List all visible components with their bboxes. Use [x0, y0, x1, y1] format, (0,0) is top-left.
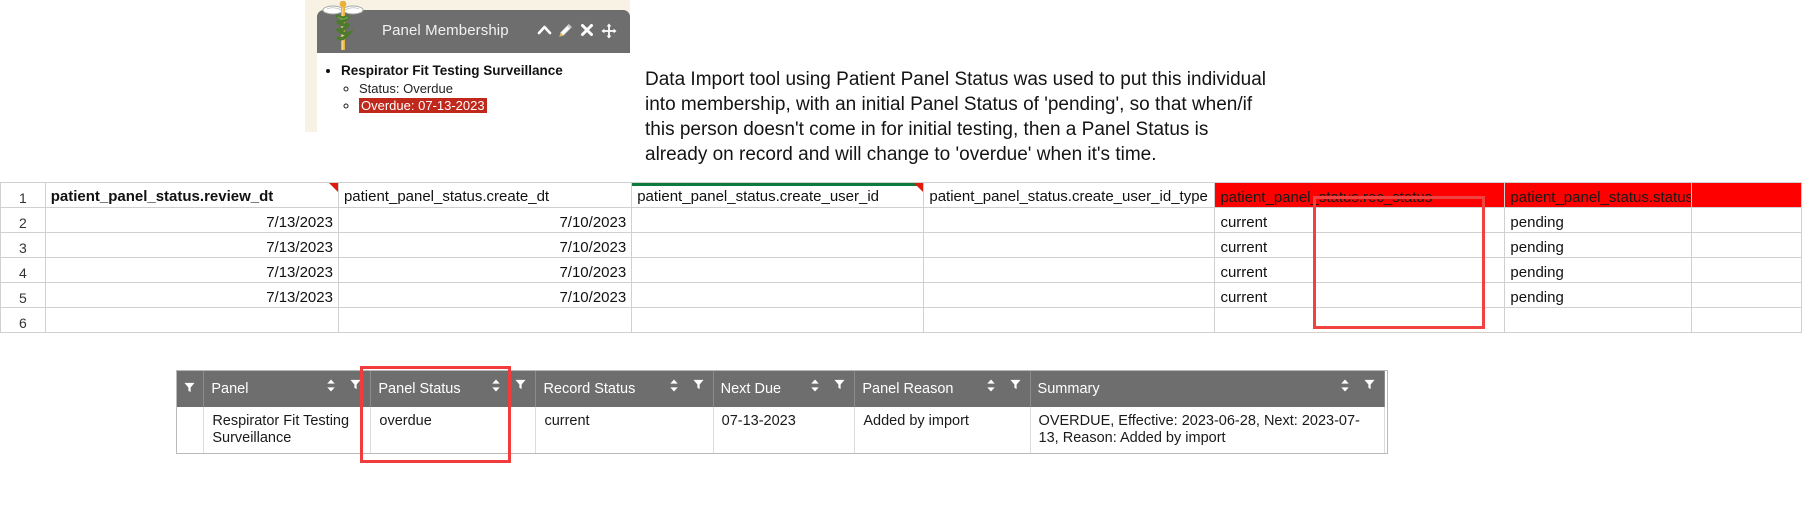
cell-review-dt[interactable]: 7/13/2023 [45, 208, 338, 233]
cell-create-dt[interactable]: 7/10/2023 [338, 283, 631, 308]
row-number[interactable]: 4 [1, 258, 46, 283]
sort-arrows-glyph [491, 379, 501, 392]
panel-title: Panel Membership [382, 22, 509, 39]
column-header-rec-status[interactable]: patient_panel_status.rec_status [1215, 183, 1505, 208]
panel-overdue-line: Overdue: 07-13-2023 [359, 98, 487, 113]
sort-icon[interactable] [669, 379, 679, 395]
grid-column-label: Panel [211, 381, 248, 397]
grid-cell-panel-status[interactable]: overdue [371, 407, 536, 453]
cell-trailing[interactable] [1691, 258, 1801, 283]
move-icon[interactable] [601, 23, 617, 43]
panel-list: Respirator Fit Testing Surveillance Stat… [317, 53, 630, 114]
cell-trailing[interactable] [1691, 283, 1801, 308]
panel-overdue-line-row: Overdue: 07-13-2023 [359, 97, 630, 114]
sort-icon[interactable] [986, 379, 996, 395]
grid-cell-summary[interactable]: OVERDUE, Effective: 2023-06-28, Next: 20… [1030, 407, 1384, 453]
annotation-line-4: already on record and will change to 'ov… [645, 142, 1365, 167]
cell-rec-status[interactable]: current [1215, 208, 1505, 233]
cell-create-user-id-type[interactable] [924, 208, 1215, 233]
filter-icon [184, 382, 195, 393]
filter-glyph [350, 379, 361, 390]
cell-create-user-id[interactable] [632, 258, 924, 283]
cell-create-dt[interactable] [338, 308, 631, 333]
cell-create-dt[interactable]: 7/10/2023 [338, 233, 631, 258]
cell-create-user-id[interactable] [632, 283, 924, 308]
annotation-line-3: this person doesn't come in for initial … [645, 117, 1365, 142]
filter-icon[interactable] [515, 379, 526, 392]
caduceus-glyph [321, 1, 365, 53]
cell-create-user-id-type[interactable] [924, 233, 1215, 258]
cell-status[interactable] [1505, 308, 1691, 333]
cell-status[interactable]: pending [1505, 258, 1691, 283]
grid-column-panel-status[interactable]: Panel Status [371, 371, 536, 407]
annotation-line-2: into membership, with an initial Panel S… [645, 92, 1365, 117]
cell-trailing[interactable] [1691, 208, 1801, 233]
sort-icon[interactable] [326, 379, 336, 395]
grid-column-label: Next Due [721, 381, 781, 397]
column-header-create-dt[interactable]: patient_panel_status.create_dt [338, 183, 631, 208]
table-row: 2 7/13/2023 7/10/2023 current pending [1, 208, 1802, 233]
cell-review-dt[interactable]: 7/13/2023 [45, 233, 338, 258]
column-header-create-user-id[interactable]: patient_panel_status.create_user_id [632, 183, 924, 208]
sort-icon[interactable] [810, 379, 820, 395]
filter-icon[interactable] [693, 379, 704, 392]
grid-header-row: Panel Panel Status [177, 371, 1385, 407]
cell-trailing[interactable] [1691, 308, 1801, 333]
cell-create-user-id[interactable] [632, 233, 924, 258]
cell-create-dt[interactable]: 7/10/2023 [338, 208, 631, 233]
column-header-create-user-id-type[interactable]: patient_panel_status.create_user_id_type [924, 183, 1215, 208]
grid-cell-panel[interactable]: Respirator Fit Testing Surveillance [204, 407, 371, 453]
grid-cell-record-status[interactable]: current [536, 407, 713, 453]
grid-column-label: Summary [1038, 381, 1100, 397]
filter-glyph [1364, 379, 1375, 390]
row-number[interactable]: 2 [1, 208, 46, 233]
sort-arrows-glyph [986, 379, 996, 392]
sort-arrows-glyph [669, 379, 679, 392]
cell-status[interactable]: pending [1505, 233, 1691, 258]
cell-rec-status[interactable]: current [1215, 283, 1505, 308]
spreadsheet-table: 1 patient_panel_status.review_dt patient… [0, 182, 1802, 333]
pencil-glyph [558, 23, 573, 38]
table-row: 4 7/13/2023 7/10/2023 current pending [1, 258, 1802, 283]
table-row: 5 7/13/2023 7/10/2023 current pending [1, 283, 1802, 308]
grid-column-next-due[interactable]: Next Due [713, 371, 855, 407]
cell-rec-status[interactable]: current [1215, 258, 1505, 283]
cell-create-user-id[interactable] [632, 308, 924, 333]
panel-status-line: Status: Overdue [359, 80, 630, 97]
sort-icon[interactable] [1340, 379, 1350, 395]
grid-cell-leading [177, 407, 204, 453]
close-icon[interactable] [580, 23, 594, 41]
filter-icon[interactable] [834, 379, 845, 392]
x-glyph [580, 23, 594, 37]
cell-rec-status[interactable] [1215, 308, 1505, 333]
edit-pencil-icon[interactable] [558, 23, 573, 42]
grid-column-panel-reason[interactable]: Panel Reason [855, 371, 1030, 407]
annotation-line-1: Data Import tool using Patient Panel Sta… [645, 67, 1365, 92]
grid-cell-panel-reason[interactable]: Added by import [855, 407, 1030, 453]
table-row: 3 7/13/2023 7/10/2023 current pending [1, 233, 1802, 258]
row-number[interactable]: 3 [1, 233, 46, 258]
panel-membership-widget: Panel Membership [305, 0, 630, 132]
row-number[interactable]: 5 [1, 283, 46, 308]
grid-column-label: Panel Reason [862, 381, 953, 397]
sort-arrows-glyph [810, 379, 820, 392]
panel-grid-table: Panel Panel Status [177, 371, 1385, 453]
sort-arrows-glyph [326, 379, 336, 392]
grid-header-filter-leading[interactable] [177, 371, 204, 407]
cell-create-user-id-type[interactable] [924, 283, 1215, 308]
column-header-review-dt[interactable]: patient_panel_status.review_dt [45, 183, 338, 208]
filter-glyph [515, 379, 526, 390]
grid-column-record-status[interactable]: Record Status [536, 371, 713, 407]
panel-item-title: Respirator Fit Testing Surveillance [341, 63, 563, 78]
cell-rec-status[interactable]: current [1215, 233, 1505, 258]
column-header-status[interactable]: patient_panel_status.status [1505, 183, 1691, 208]
grid-cell-next-due[interactable]: 07-13-2023 [713, 407, 855, 453]
annotation-text: Data Import tool using Patient Panel Sta… [645, 67, 1365, 167]
grid-column-label: Panel Status [378, 381, 460, 397]
sort-arrows-glyph [1340, 379, 1350, 392]
chevron-up-glyph [537, 23, 552, 37]
cell-review-dt[interactable]: 7/13/2023 [45, 258, 338, 283]
cell-trailing[interactable] [1691, 233, 1801, 258]
panel-sublist: Status: Overdue Overdue: 07-13-2023 [341, 79, 630, 114]
grid-column-label: Record Status [543, 381, 635, 397]
cell-create-dt[interactable]: 7/10/2023 [338, 258, 631, 283]
cell-status[interactable]: pending [1505, 208, 1691, 233]
panel-list-item: Respirator Fit Testing Surveillance Stat… [341, 63, 630, 114]
sort-icon[interactable] [491, 379, 501, 395]
spreadsheet: 1 patient_panel_status.review_dt patient… [0, 182, 1802, 332]
panel-membership-body: Respirator Fit Testing Surveillance Stat… [317, 53, 630, 132]
column-header-trailing-fill [1691, 183, 1801, 208]
filter-icon[interactable] [1364, 379, 1375, 392]
spreadsheet-header-row: 1 patient_panel_status.review_dt patient… [1, 183, 1802, 208]
cell-review-dt[interactable]: 7/13/2023 [45, 283, 338, 308]
panel-membership-grid: Panel Panel Status [176, 370, 1388, 454]
grid-data-row[interactable]: Respirator Fit Testing Surveillance over… [177, 407, 1385, 453]
filter-icon[interactable] [350, 379, 361, 392]
filter-glyph [693, 379, 704, 390]
filter-glyph [1010, 379, 1021, 390]
filter-glyph [834, 379, 845, 390]
grid-column-summary[interactable]: Summary [1030, 371, 1384, 407]
cell-review-dt[interactable] [45, 308, 338, 333]
caduceus-icon [321, 1, 365, 53]
cell-create-user-id-type[interactable] [924, 308, 1215, 333]
cell-create-user-id[interactable] [632, 208, 924, 233]
collapse-icon[interactable] [537, 23, 552, 41]
cell-create-user-id-type[interactable] [924, 258, 1215, 283]
row-number[interactable]: 1 [1, 183, 46, 208]
cell-status[interactable]: pending [1505, 283, 1691, 308]
four-arrows-glyph [601, 23, 617, 39]
grid-column-panel[interactable]: Panel [204, 371, 371, 407]
table-row: 6 [1, 308, 1802, 333]
row-number[interactable]: 6 [1, 308, 46, 333]
filter-icon[interactable] [1010, 379, 1021, 392]
